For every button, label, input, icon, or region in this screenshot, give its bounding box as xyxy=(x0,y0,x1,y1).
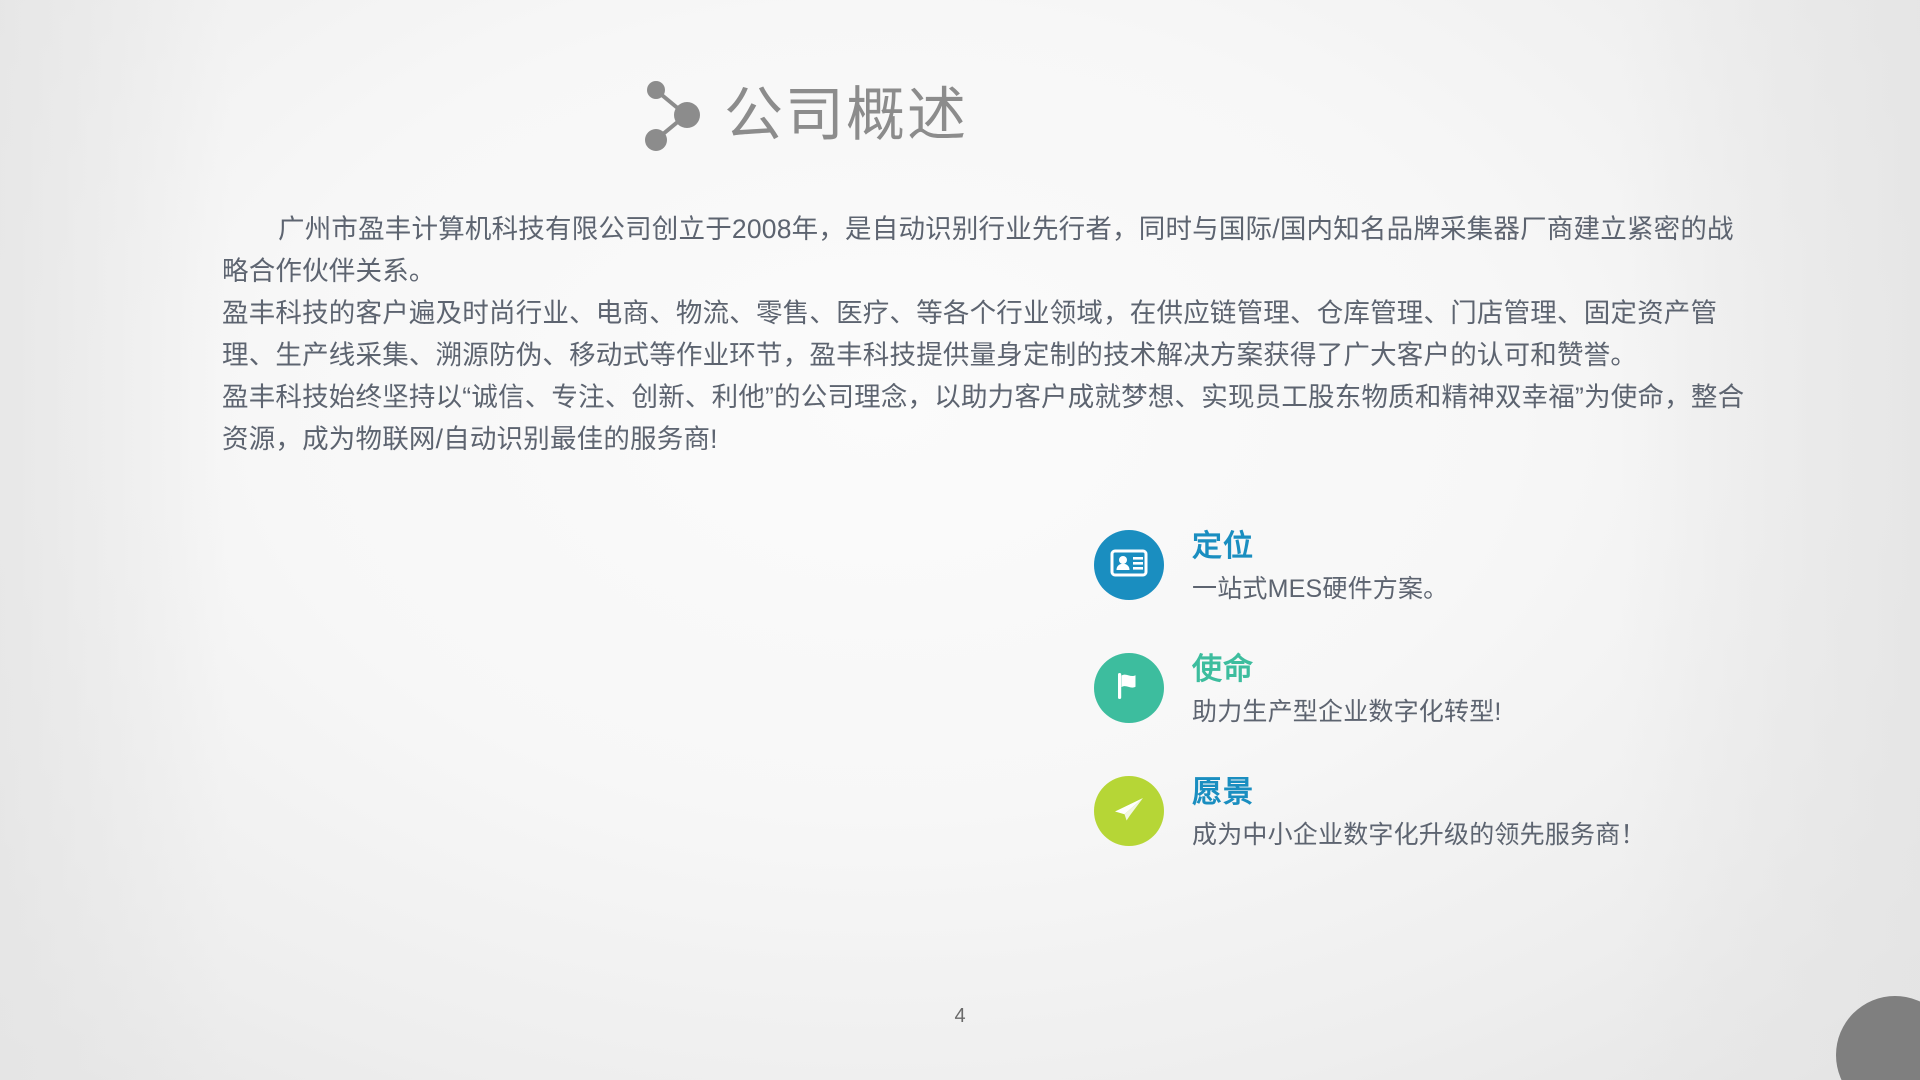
share-nodes-icon xyxy=(640,78,702,152)
pillar-text-mission: 使命 助力生产型企业数字化转型! xyxy=(1192,651,1502,731)
pillar-description: 一站式MES硬件方案。 xyxy=(1192,570,1448,608)
paragraph-2: 盈丰科技的客户遍及时尚行业、电商、物流、零售、医疗、等各个行业领域，在供应链管理… xyxy=(222,292,1752,376)
background-sheen-right xyxy=(1620,0,1920,1080)
pillar-badge-positioning xyxy=(1094,530,1164,600)
page-title: 公司概述 xyxy=(724,86,968,145)
paragraph-3: 盈丰科技始终坚持以“诚信、专注、创新、利他”的公司理念，以助力客户成就梦想、实现… xyxy=(222,376,1752,460)
paper-plane-icon xyxy=(1109,789,1149,834)
background-sheen-left xyxy=(0,0,230,1080)
pillar-positioning: 定位 一站式MES硬件方案。 xyxy=(1094,528,1646,608)
pillar-text-positioning: 定位 一站式MES硬件方案。 xyxy=(1192,528,1448,608)
paragraph-1: 广州市盈丰计算机科技有限公司创立于2008年，是自动识别行业先行者，同时与国际/… xyxy=(222,208,1752,292)
pillar-badge-mission xyxy=(1094,653,1164,723)
pillar-vision: 愿景 成为中小企业数字化升级的领先服务商！ xyxy=(1094,774,1646,854)
page-number: 4 xyxy=(0,1005,1920,1028)
pillar-mission: 使命 助力生产型企业数字化转型! xyxy=(1094,651,1646,731)
pillars-list: 定位 一站式MES硬件方案。 使命 助力生产型企业数字化转型! xyxy=(1094,528,1646,854)
pillar-text-vision: 愿景 成为中小企业数字化升级的领先服务商！ xyxy=(1192,774,1646,854)
slide-header: 公司概述 xyxy=(640,78,968,152)
id-card-icon xyxy=(1109,543,1149,588)
slide-canvas: 公司概述 广州市盈丰计算机科技有限公司创立于2008年，是自动识别行业先行者，同… xyxy=(0,0,1920,1080)
flag-icon xyxy=(1109,666,1149,711)
pillar-description: 成为中小企业数字化升级的领先服务商！ xyxy=(1192,816,1646,854)
pillar-title: 愿景 xyxy=(1192,774,1646,812)
pillar-title: 使命 xyxy=(1192,651,1502,689)
pillar-description: 助力生产型企业数字化转型! xyxy=(1192,693,1502,731)
pillar-badge-vision xyxy=(1094,776,1164,846)
body-copy: 广州市盈丰计算机科技有限公司创立于2008年，是自动识别行业先行者，同时与国际/… xyxy=(222,208,1752,460)
pillar-title: 定位 xyxy=(1192,528,1448,566)
